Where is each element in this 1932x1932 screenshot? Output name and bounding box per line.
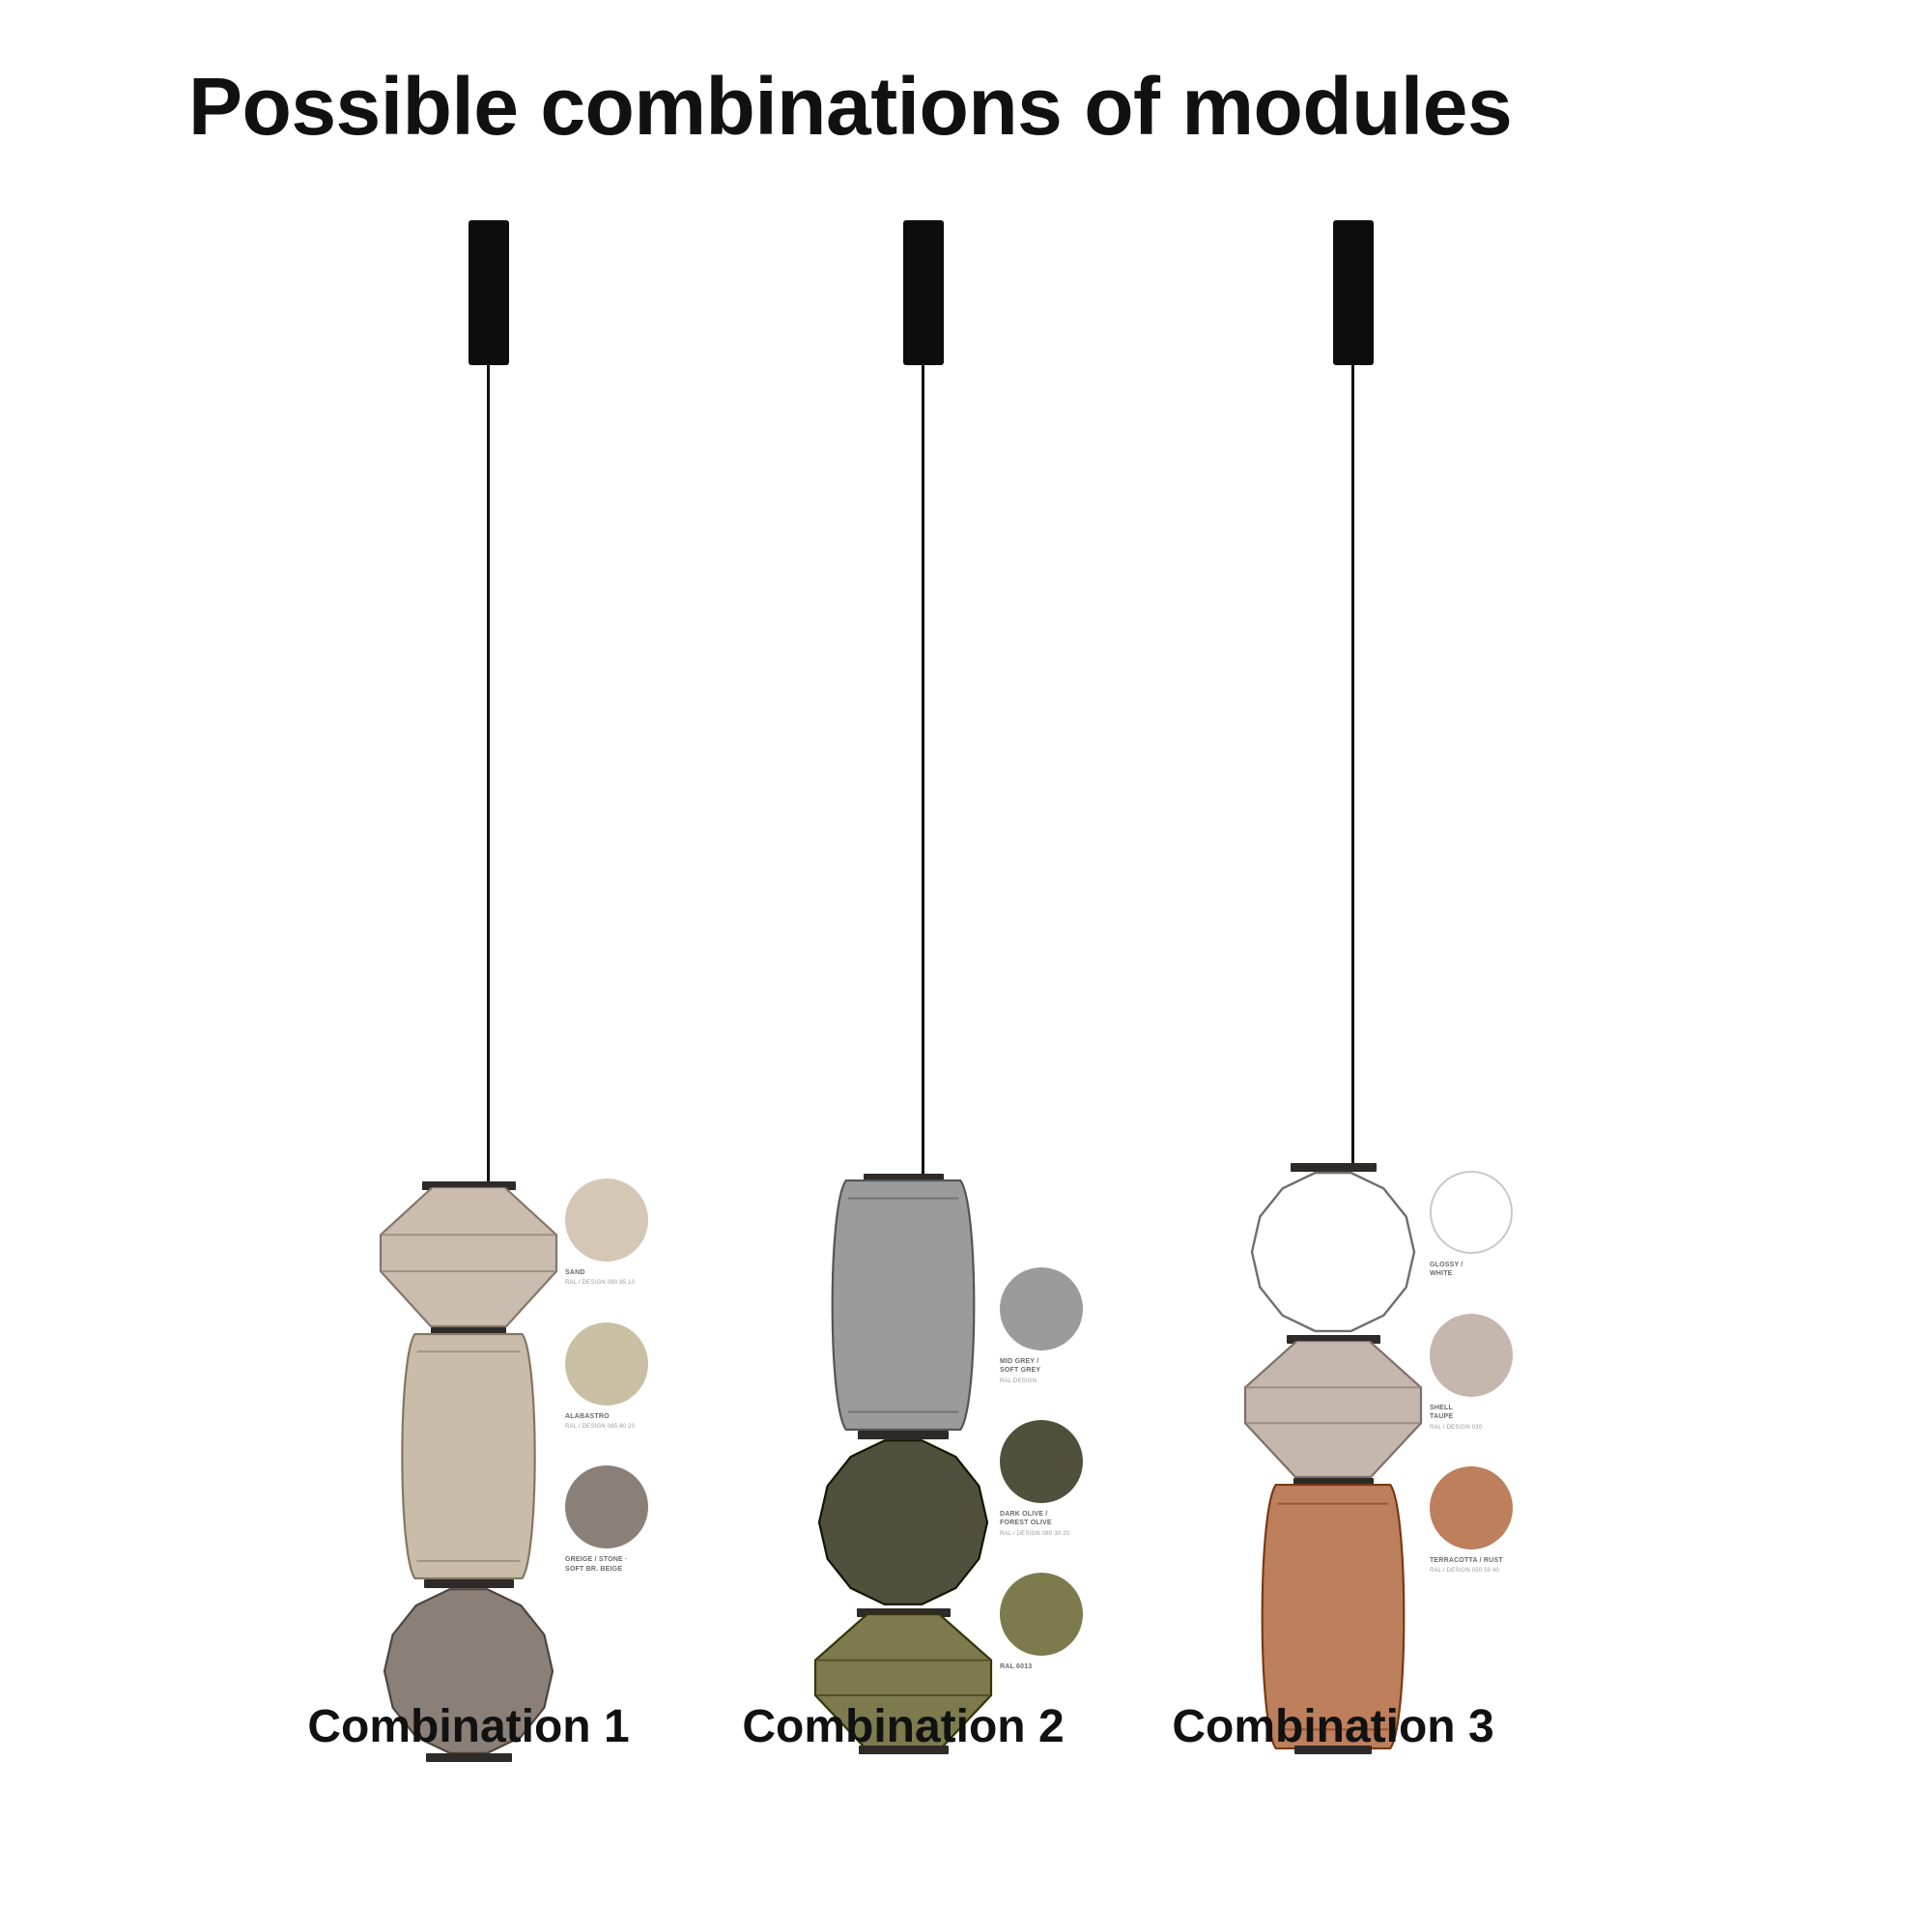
combination-column-1: SANDRAL / DESIGN 080 85 10ALABASTRORAL /… [246, 0, 691, 1739]
color-swatch-item[interactable]: TERRACOTTA / RUSTRAL / DESIGN 050 50 40 [1430, 1466, 1594, 1576]
canopy-mount [903, 220, 944, 365]
swatch-dot-2 [1000, 1420, 1083, 1503]
barrel-module[interactable] [826, 1179, 980, 1431]
combination-label: Combination 1 [246, 1700, 691, 1753]
swatch-dot-3 [1430, 1466, 1513, 1549]
canopy-mount [1333, 220, 1374, 365]
color-swatch-list: GLOSSY / WHITESHELL TAUPERAL / DESIGN 03… [1430, 1171, 1594, 1609]
module-end-cap [426, 1753, 512, 1762]
swatch-description: RAL / DESIGN 050 50 40 [1430, 1567, 1594, 1575]
swatch-dot-1 [1000, 1267, 1083, 1350]
color-swatch-item[interactable]: SHELL TAUPERAL / DESIGN 030 [1430, 1314, 1594, 1432]
swatch-dot-1 [565, 1179, 648, 1262]
canopy-mount [469, 220, 509, 365]
swatch-dot-3 [565, 1465, 648, 1548]
swatch-name: GLOSSY / WHITE [1430, 1261, 1594, 1279]
swatch-dot-2 [1430, 1314, 1513, 1397]
combination-label: Combination 2 [681, 1700, 1125, 1753]
swatch-dot-3 [1000, 1573, 1083, 1656]
suspension-cable [1351, 365, 1354, 1163]
sphere-module[interactable] [816, 1436, 990, 1608]
color-swatch-item[interactable]: GLOSSY / WHITE [1430, 1171, 1594, 1279]
swatch-dot-2 [565, 1322, 648, 1406]
diamond-module[interactable] [1243, 1341, 1423, 1478]
swatch-name: SHELL TAUPE [1430, 1404, 1594, 1422]
swatch-name: TERRACOTTA / RUST [1430, 1556, 1594, 1565]
combination-label: Combination 3 [1111, 1700, 1555, 1753]
combination-column-2: MID GREY / SOFT GREYRAL DESIGNDARK OLIVE… [681, 0, 1125, 1739]
combination-column-3: GLOSSY / WHITESHELL TAUPERAL / DESIGN 03… [1111, 0, 1555, 1739]
suspension-cable [487, 365, 490, 1181]
swatch-dot-1 [1430, 1171, 1513, 1254]
sphere-module[interactable] [1250, 1169, 1416, 1335]
barrel-module[interactable] [396, 1333, 541, 1579]
diamond-module[interactable] [379, 1187, 558, 1327]
suspension-cable [922, 365, 924, 1174]
diagram-canvas: Possible combinations of modules SANDRAL… [0, 0, 1932, 1932]
swatch-description: RAL / DESIGN 030 [1430, 1424, 1594, 1432]
